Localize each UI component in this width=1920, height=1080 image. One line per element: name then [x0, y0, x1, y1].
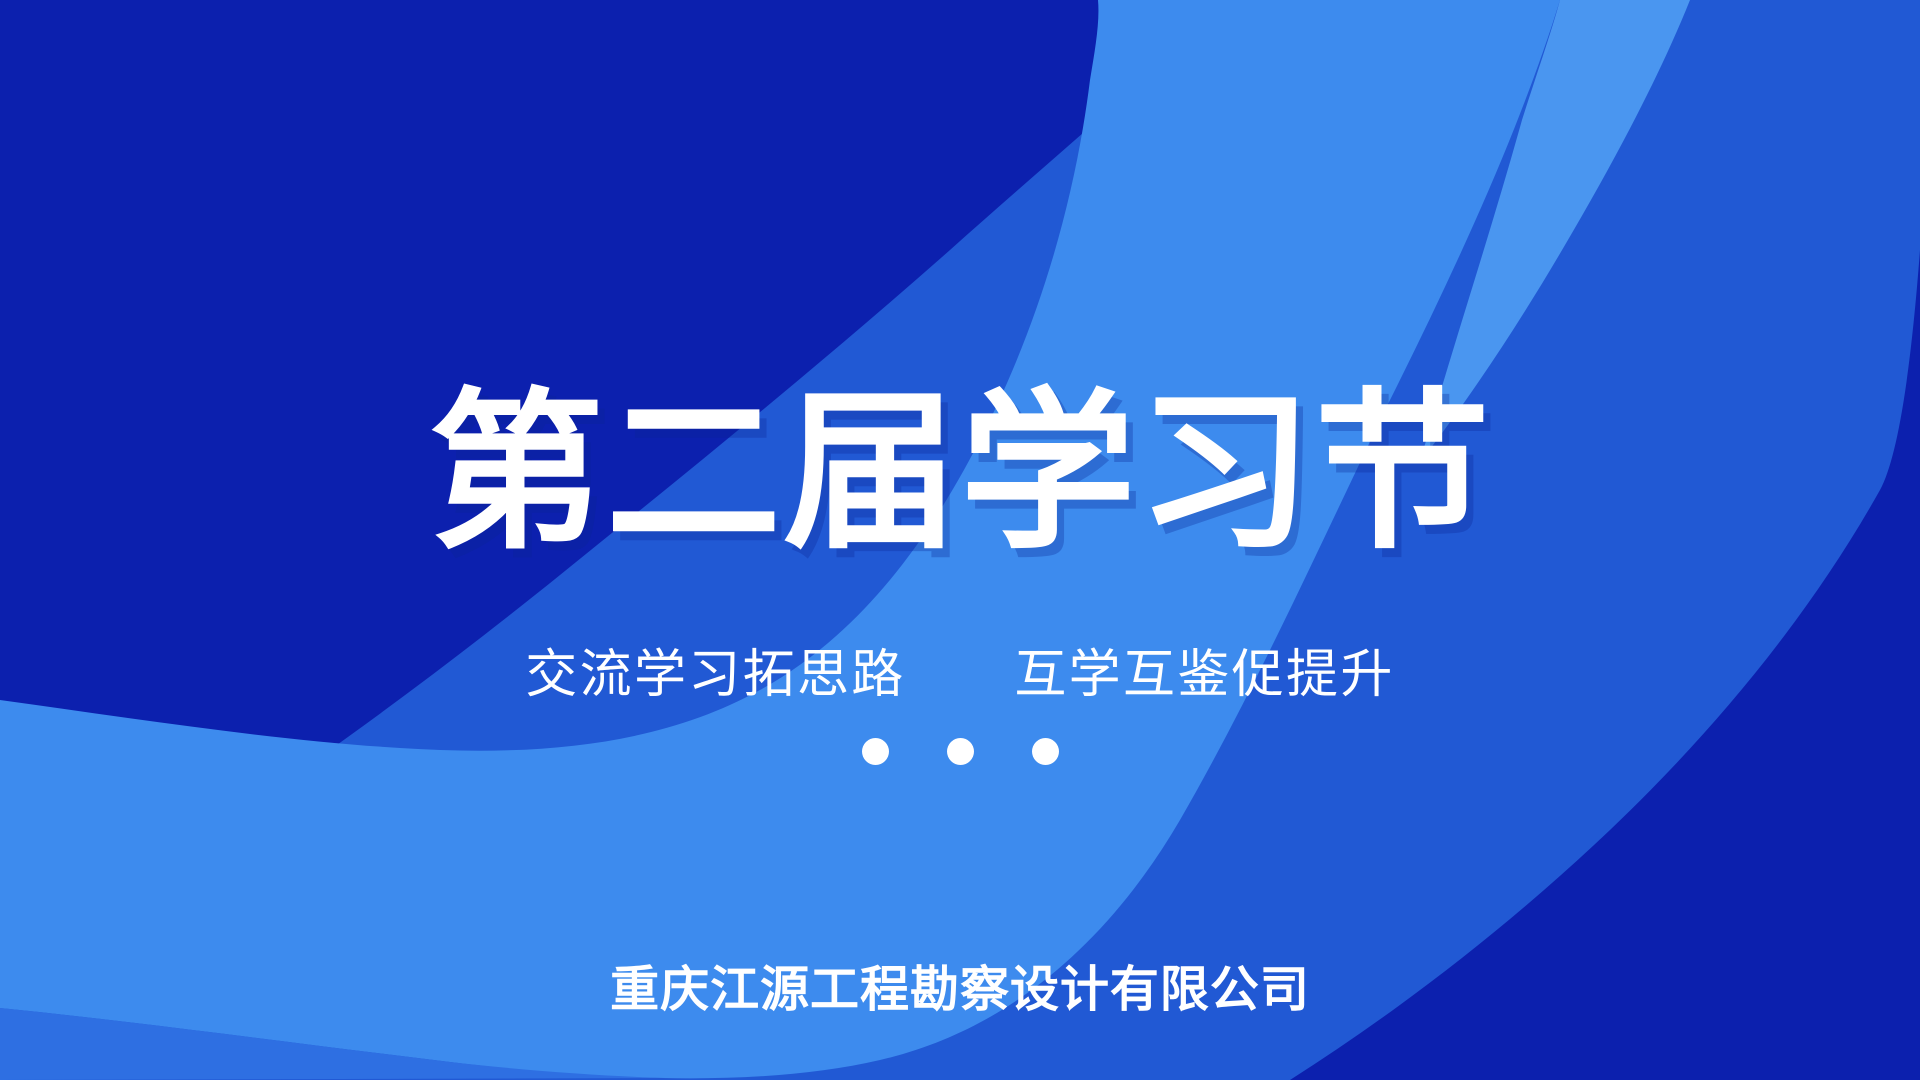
- divider-dot-icon: [947, 738, 974, 765]
- poster-canvas: 第二届学习节 交流学习拓思路 互学互鉴促提升 重庆江源工程勘察设计有限公司: [0, 0, 1920, 1080]
- subtitle-block: 交流学习拓思路 互学互鉴促提升: [0, 592, 1920, 758]
- poster-content: 第二届学习节 交流学习拓思路 互学互鉴促提升 重庆江源工程勘察设计有限公司: [0, 0, 1920, 1080]
- divider-dot-icon: [862, 738, 889, 765]
- footer-block: 重庆江源工程勘察设计有限公司: [0, 912, 1920, 1069]
- dots-divider: [0, 738, 1920, 765]
- divider-dot-icon: [1032, 738, 1059, 765]
- page-title: 第二届学习节: [428, 387, 1491, 559]
- page-subtitle: 交流学习拓思路 互学互鉴促提升: [525, 644, 1394, 706]
- organization-name: 重庆江源工程勘察设计有限公司: [610, 961, 1310, 1020]
